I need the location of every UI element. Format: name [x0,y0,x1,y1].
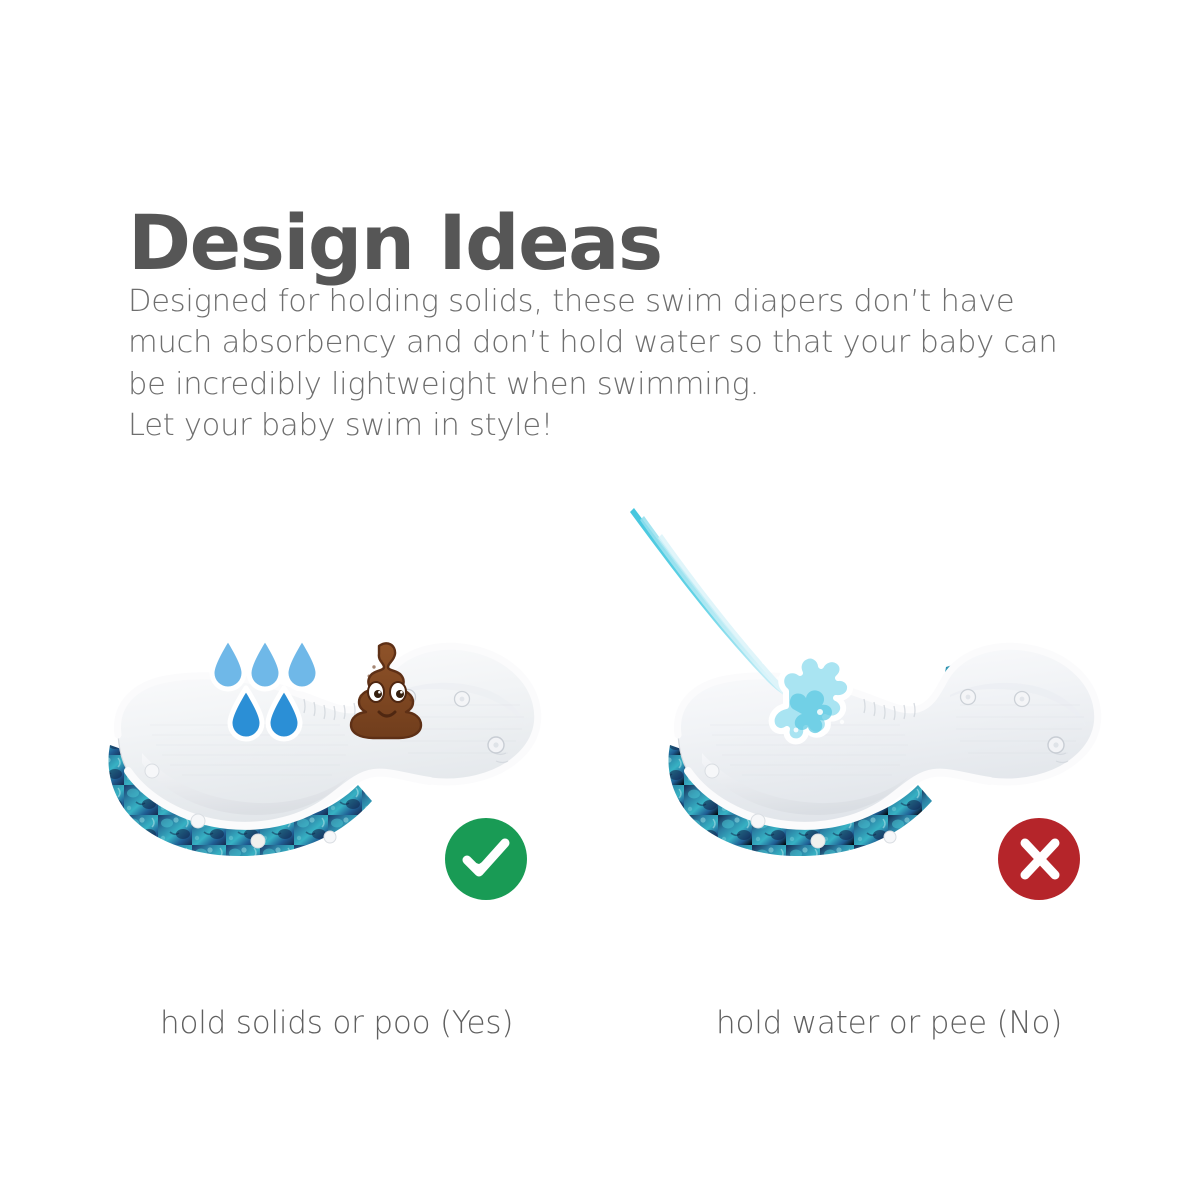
cross-icon [1012,832,1066,886]
infographic-page: Design Ideas Designed for holding solids… [0,0,1200,1200]
description-line-3: be incredibly lightweight when swimming. [128,364,1118,405]
panel-hold-water [600,500,1160,940]
caption-hold-water: hold water or pee (No) [716,1005,1062,1041]
product-photo-right [600,500,1160,940]
caption-hold-solids: hold solids or poo (Yes) [160,1005,513,1041]
description-line-4: Let your baby swim in style! [128,405,1118,446]
check-icon [459,832,513,886]
status-badge-yes [445,818,527,900]
status-badge-no [998,818,1080,900]
poo-emoji-icon [332,634,440,742]
description-paragraph: Designed for holding solids, these swim … [128,281,1118,446]
description-line-2: much absorbency and don’t hold water so … [128,322,1118,363]
panel-hold-solids [40,500,600,940]
page-title: Design Ideas [128,203,662,284]
product-photo-left [40,500,600,940]
water-droplets-icon [208,632,338,747]
description-line-1: Designed for holding solids, these swim … [128,281,1118,322]
